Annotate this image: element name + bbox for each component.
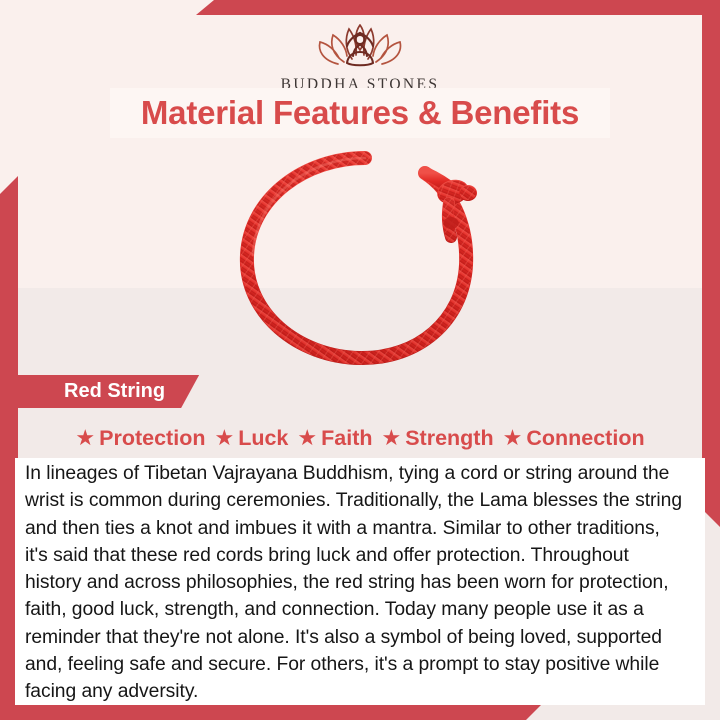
star-icon: ★ — [214, 427, 234, 449]
product-name-label: Red String — [64, 380, 165, 403]
star-icon: ★ — [503, 427, 523, 449]
benefit-label: Connection — [526, 426, 644, 451]
headline-band: Material Features & Benefits — [110, 88, 610, 138]
benefit-item-faith: ★ Faith — [297, 426, 372, 451]
benefit-item-connection: ★ Connection — [503, 426, 645, 451]
benefit-label: Protection — [99, 426, 205, 451]
benefit-label: Faith — [321, 426, 372, 451]
benefit-label: Strength — [405, 426, 493, 451]
star-icon: ★ — [297, 427, 317, 449]
brand-logo: BUDDHA STONES — [0, 16, 720, 94]
product-name-ribbon: Red String — [18, 375, 199, 408]
red-string-bracelet-icon — [220, 145, 500, 375]
description-text: In lineages of Tibetan Vajrayana Buddhis… — [25, 460, 687, 706]
benefits-row: ★ Protection ★ Luck ★ Faith ★ Strength ★… — [18, 418, 702, 458]
description-card: In lineages of Tibetan Vajrayana Buddhis… — [15, 458, 705, 705]
infographic-canvas: BUDDHA STONES Material Features & Benefi… — [0, 0, 720, 720]
star-icon: ★ — [381, 427, 401, 449]
star-icon: ★ — [75, 427, 95, 449]
product-image-stage — [18, 145, 702, 375]
benefit-label: Luck — [238, 426, 288, 451]
benefit-item-strength: ★ Strength — [381, 426, 493, 451]
page-title: Material Features & Benefits — [141, 94, 579, 132]
benefit-item-protection: ★ Protection — [75, 426, 205, 451]
lotus-meditation-figure-icon — [308, 16, 412, 72]
decorative-bar-top — [196, 0, 720, 15]
benefit-item-luck: ★ Luck — [214, 426, 288, 451]
